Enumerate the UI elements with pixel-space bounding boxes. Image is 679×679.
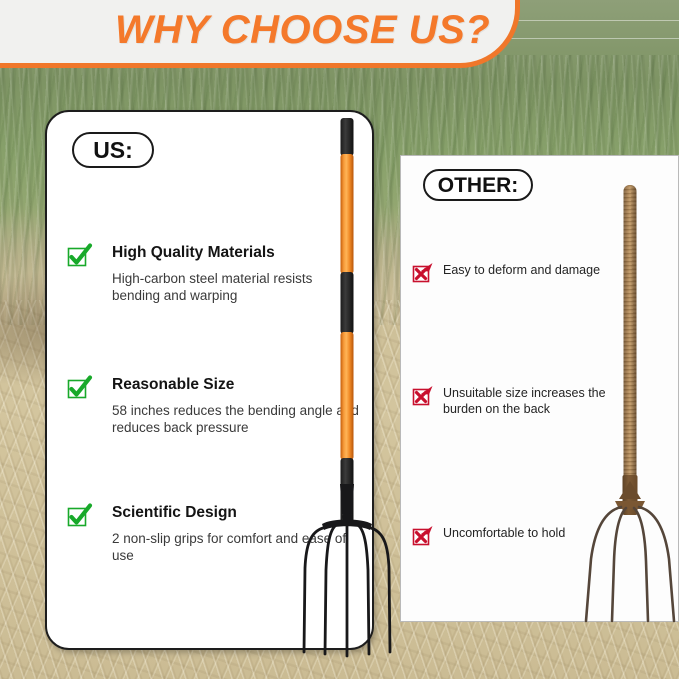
green-check-icon (67, 242, 93, 268)
feature-title: Scientific Design (112, 504, 237, 522)
green-check-icon (67, 374, 93, 400)
handle-shaft-upper (341, 154, 354, 274)
red-x-icon (411, 524, 435, 548)
handle-grip-middle (341, 272, 354, 334)
feature-title: High Quality Materials (112, 244, 275, 262)
handle-grip-top (341, 118, 354, 156)
feature-description: High-carbon steel material resists bendi… (112, 270, 362, 304)
rusty-fork-head (575, 481, 679, 641)
feature-description: 58 inches reduces the bending angle and … (112, 402, 362, 436)
power-line-upper (500, 20, 679, 21)
wooden-rusty-pitchfork (610, 185, 650, 620)
drawback-text: Easy to deform and damage (443, 262, 623, 278)
feature-title: Reasonable Size (112, 376, 234, 394)
red-x-icon (411, 384, 435, 408)
us-badge: US: (72, 132, 154, 168)
power-line-lower (500, 38, 679, 39)
black-fork-head (292, 484, 402, 664)
infographic-canvas: WHY CHOOSE US? OTHER: Easy to deform and… (0, 0, 679, 679)
other-badge: OTHER: (423, 169, 533, 201)
orange-black-pitchfork (330, 118, 364, 638)
page-title: WHY CHOOSE US? (115, 8, 490, 53)
drawback-text: Unsuitable size increases the burden on … (443, 385, 623, 417)
wooden-handle (624, 185, 637, 480)
red-x-icon (411, 261, 435, 285)
green-check-icon (67, 502, 93, 528)
handle-shaft-lower (341, 332, 354, 460)
